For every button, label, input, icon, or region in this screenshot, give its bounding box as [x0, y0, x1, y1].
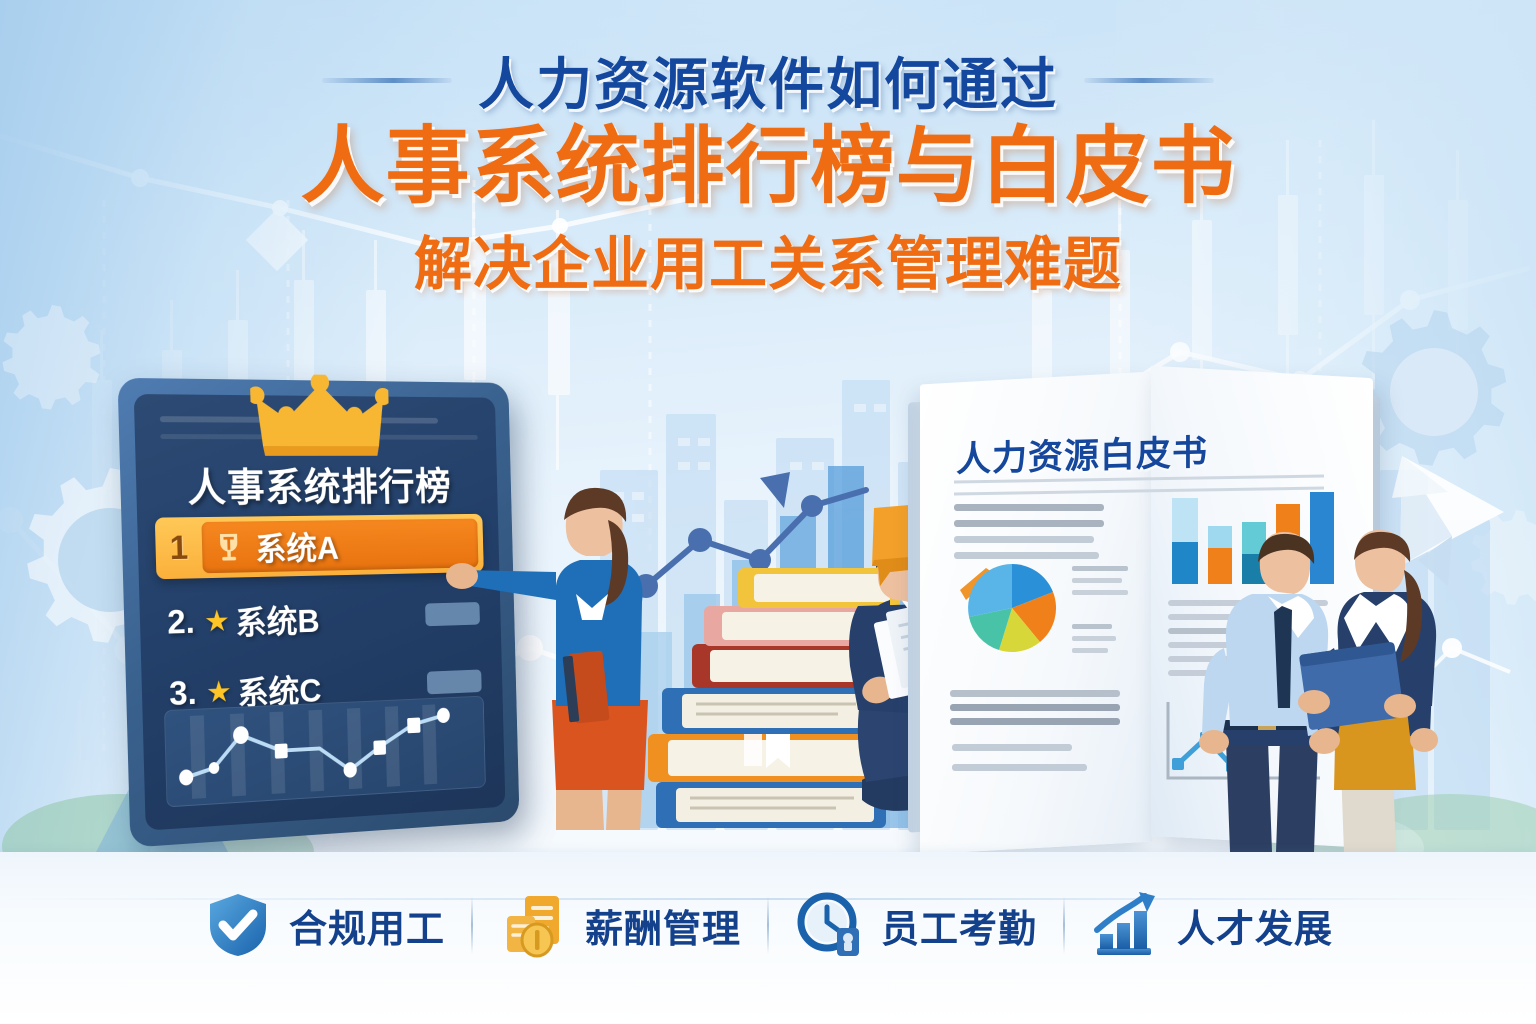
ranking-row-2[interactable]: 2. ★ 系统B	[157, 587, 486, 651]
kicker-row: 人力资源软件如何通过	[0, 40, 1536, 121]
poster-canvas: 人力资源软件如何通过 人事系统排行榜与白皮书 解决企业用工关系管理难题 人事系统…	[0, 0, 1536, 1024]
star-icon: ★	[206, 674, 233, 709]
kicker-rule-left	[322, 78, 452, 83]
rank-system-name: 系统A	[255, 522, 340, 570]
title-block: 人力资源软件如何通过 人事系统排行榜与白皮书 解决企业用工关系管理难题	[0, 40, 1536, 301]
feature-item-payroll[interactable]: 薪酬管理	[473, 890, 767, 960]
feature-label: 合规用工	[289, 898, 445, 953]
rank-number: 2.	[157, 602, 204, 642]
feature-label: 人才发展	[1177, 898, 1333, 953]
whitepaper-content	[920, 372, 1370, 854]
rank-score-bar	[427, 669, 482, 694]
crown-icon	[250, 374, 390, 458]
ranking-row-1[interactable]: 1 系统A	[155, 514, 484, 579]
page-title: 人事系统排行榜与白皮书	[0, 119, 1536, 213]
ranking-board-screen: 人事系统排行榜 1 系统A	[134, 394, 506, 831]
page-subtitle: 解决企业用工关系管理难题	[0, 217, 1536, 301]
kicker-rule-right	[1084, 78, 1214, 83]
feature-bar: 合规用工 薪酬管理	[0, 852, 1536, 1024]
feature-item-compliance[interactable]: 合规用工	[177, 890, 471, 960]
kicker-text: 人力资源软件如何通过	[478, 40, 1058, 121]
feature-list: 合规用工 薪酬管理	[0, 870, 1536, 980]
feature-label: 薪酬管理	[585, 898, 741, 953]
rank-score-bar	[425, 602, 480, 626]
rank-system-name: 系统B	[235, 595, 320, 644]
ranking-board-title: 人事系统排行榜	[135, 456, 497, 514]
shield-check-icon	[203, 890, 273, 960]
trophy-icon	[211, 529, 246, 565]
ranking-board-line-chart	[164, 696, 486, 808]
ranking-board[interactable]: 人事系统排行榜 1 系统A	[118, 378, 520, 848]
rank-number: 1	[155, 528, 203, 567]
whitepaper-book[interactable]: 人力资源白皮书	[920, 372, 1370, 854]
clock-attendance-icon	[795, 890, 865, 960]
feature-item-attendance[interactable]: 员工考勤	[769, 890, 1063, 960]
growth-chart-icon	[1091, 890, 1161, 960]
feature-label: 员工考勤	[881, 898, 1037, 953]
rank-pill: 系统A	[201, 519, 478, 574]
feature-item-talent[interactable]: 人才发展	[1065, 890, 1359, 960]
coins-document-icon	[499, 890, 569, 960]
star-icon: ★	[204, 604, 231, 639]
